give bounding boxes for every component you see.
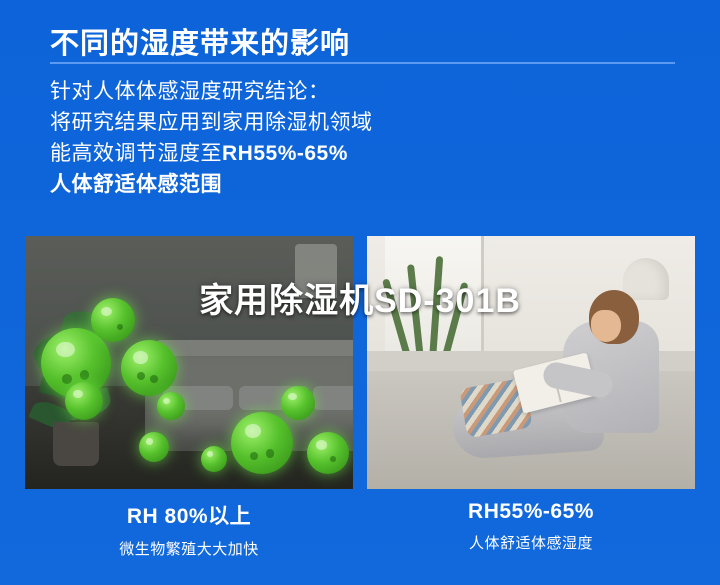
product-brand-title: 家用除湿机SD-301B bbox=[0, 273, 720, 322]
caption-right: RH55%-65% 人体舒适体感湿度 bbox=[367, 500, 695, 559]
poster-canvas: 不同的湿度带来的影响 针对人体体感湿度研究结论： 将研究结果应用到家用除湿机领域… bbox=[0, 0, 720, 585]
germ-icon bbox=[307, 432, 349, 474]
germ-dot bbox=[330, 456, 336, 462]
germ-dot bbox=[117, 324, 123, 330]
germ-icon bbox=[65, 382, 103, 420]
germ-icon bbox=[139, 432, 169, 462]
body-line-2: 将研究结果应用到家用除湿机领域 bbox=[50, 107, 670, 138]
caption-right-subtitle: 人体舒适体感湿度 bbox=[367, 532, 695, 553]
caption-left-subtitle: 微生物繁殖大大加快 bbox=[25, 538, 353, 559]
germ-icon bbox=[157, 392, 185, 420]
sofa-cushion bbox=[313, 386, 353, 410]
body-line-3-text: 能高效调节湿度至 bbox=[50, 142, 222, 165]
germ-icon bbox=[201, 446, 227, 472]
caption-left-title: RH 80%以上 bbox=[25, 500, 353, 530]
caption-right-title: RH55%-65% bbox=[367, 500, 695, 524]
body-text-block: 针对人体体感湿度研究结论： 将研究结果应用到家用除湿机领域 能高效调节湿度至RH… bbox=[50, 76, 670, 200]
germ-dot bbox=[62, 374, 72, 384]
body-line-3: 能高效调节湿度至RH55%-65% bbox=[50, 138, 670, 169]
germ-dot bbox=[80, 370, 90, 380]
germ-icon bbox=[281, 386, 315, 420]
body-line-4: 人体舒适体感范围 bbox=[50, 169, 670, 200]
caption-left: RH 80%以上 微生物繁殖大大加快 bbox=[25, 500, 353, 559]
page-title: 不同的湿度带来的影响 bbox=[50, 20, 350, 62]
humidity-range-highlight: RH55%-65% bbox=[222, 142, 348, 165]
germ-dot bbox=[150, 375, 158, 383]
caption-row: RH 80%以上 微生物繁殖大大加快 RH55%-65% 人体舒适体感湿度 bbox=[25, 500, 695, 559]
title-divider bbox=[50, 62, 675, 64]
germ-dot bbox=[266, 449, 275, 458]
germ-icon bbox=[121, 340, 177, 396]
plant-pot bbox=[53, 422, 99, 466]
body-line-1: 针对人体体感湿度研究结论： bbox=[50, 76, 670, 107]
germ-icon bbox=[231, 412, 293, 474]
germ-dot bbox=[250, 452, 259, 461]
germ-dot bbox=[137, 372, 145, 380]
